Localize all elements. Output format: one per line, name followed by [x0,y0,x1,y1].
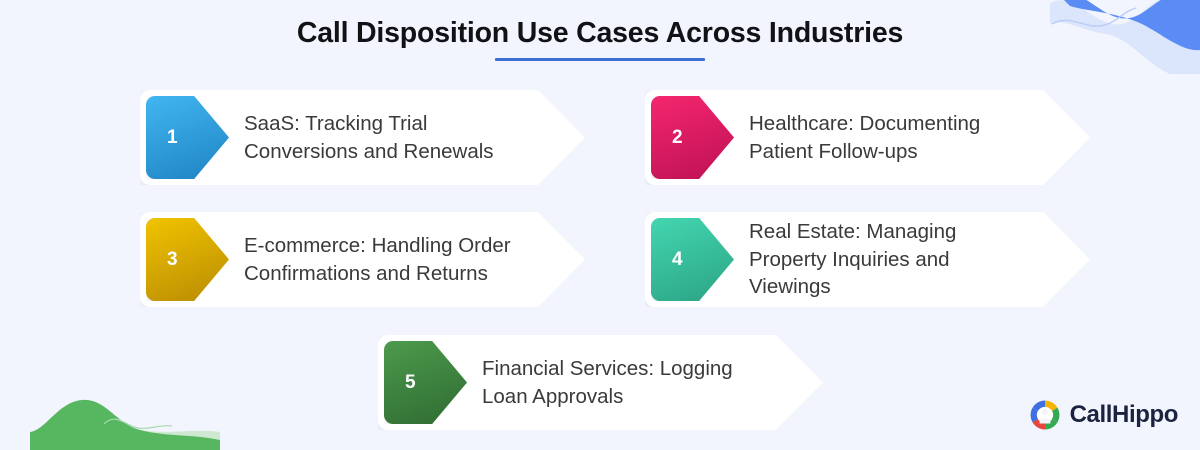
card-number: 4 [672,250,683,269]
card-number: 5 [405,373,416,392]
use-case-card-4[interactable]: 4 Real Estate: Managing Property Inquiri… [645,212,1090,307]
card-label: SaaS: Tracking Trial Conversions and Ren… [244,110,531,165]
card-text-wrap: Healthcare: Documenting Patient Follow-u… [749,90,1090,185]
use-case-card-3[interactable]: 3 E-commerce: Handling Order Confirmatio… [140,212,585,307]
use-case-card-1[interactable]: 1 SaaS: Tracking Trial Conversions and R… [140,90,585,185]
title-underline [495,58,705,61]
card-label: E-commerce: Handling Order Confirmations… [244,232,531,287]
card-label: Financial Services: Logging Loan Approva… [482,355,769,410]
card-text-wrap: Real Estate: Managing Property Inquiries… [749,212,1090,307]
callhippo-logo-text: CallHippo [1070,403,1178,427]
card-number: 2 [672,128,683,147]
card-text-wrap: E-commerce: Handling Order Confirmations… [244,212,585,307]
callhippo-logo: CallHippo [1028,398,1178,432]
use-case-card-5[interactable]: 5 Financial Services: Logging Loan Appro… [378,335,823,430]
card-label: Real Estate: Managing Property Inquiries… [749,218,1036,301]
card-text-wrap: Financial Services: Logging Loan Approva… [482,335,823,430]
card-text-wrap: SaaS: Tracking Trial Conversions and Ren… [244,90,585,185]
card-number: 1 [167,128,178,147]
callhippo-logo-icon [1028,398,1062,432]
bottom-left-wave-decoration [30,388,220,450]
card-number: 3 [167,250,178,269]
infographic-canvas: Call Disposition Use Cases Across Indust… [0,0,1200,450]
page-title-block: Call Disposition Use Cases Across Indust… [0,16,1200,61]
page-title: Call Disposition Use Cases Across Indust… [0,16,1200,50]
card-label: Healthcare: Documenting Patient Follow-u… [749,110,1036,165]
use-case-card-2[interactable]: 2 Healthcare: Documenting Patient Follow… [645,90,1090,185]
